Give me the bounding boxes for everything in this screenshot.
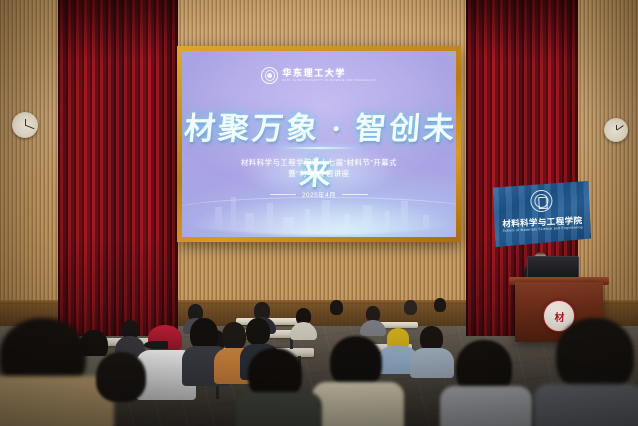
university-logo: 华东理工大学 EAST CHINA UNIVERSITY OF SCIENCE …	[182, 67, 456, 84]
wall-clock-left-icon	[12, 112, 38, 138]
red-cap-brim	[144, 341, 168, 349]
audience-member	[330, 336, 382, 388]
wall-clock-right-icon	[604, 118, 628, 142]
university-seal-icon	[261, 67, 278, 84]
lecture-hall-photo: 华东理工大学 EAST CHINA UNIVERSITY OF SCIENCE …	[0, 0, 638, 426]
audience-member	[556, 318, 634, 392]
podium-emblem-text: 材	[555, 309, 564, 324]
university-name-en: EAST CHINA UNIVERSITY OF SCIENCE AND TEC…	[282, 80, 376, 83]
slide-date-row: 2025年4月	[182, 190, 456, 199]
audience-member	[222, 322, 246, 350]
projection-screen-frame: 华东理工大学 EAST CHINA UNIVERSITY OF SCIENCE …	[177, 46, 461, 242]
slide-subtitle-line-2: 暨“材华”专题讲座	[182, 168, 456, 179]
department-banner: 材料科学与工程学院 School of Materials Science an…	[493, 181, 592, 247]
projection-screen: 华东理工大学 EAST CHINA UNIVERSITY OF SCIENCE …	[182, 51, 456, 237]
audience-member	[312, 382, 404, 426]
audience-member	[246, 318, 270, 345]
audience-member	[96, 352, 146, 402]
slide-date: 2025年4月	[302, 190, 336, 199]
audience-member	[534, 384, 638, 426]
audience-member	[434, 298, 446, 312]
audience-member	[236, 392, 322, 426]
date-rule-left	[270, 194, 296, 195]
audience-member-yellow-cap	[387, 328, 409, 348]
audience-member	[404, 300, 417, 315]
audience-member	[410, 348, 454, 378]
audience-member	[330, 300, 343, 315]
slide-swoosh-line	[182, 197, 456, 227]
audience-member	[440, 386, 532, 426]
date-rule-right	[342, 194, 368, 195]
university-name-cn: 华东理工大学	[282, 69, 376, 78]
stage-curtain-left	[58, 0, 178, 336]
slide-subtitle: 材料科学与工程学院第十七届“材料节”开幕式 暨“材华”专题讲座	[182, 157, 456, 180]
slide-title-underline	[277, 147, 361, 149]
slide-subtitle-line-1: 材料科学与工程学院第十七届“材料节”开幕式	[182, 157, 456, 168]
